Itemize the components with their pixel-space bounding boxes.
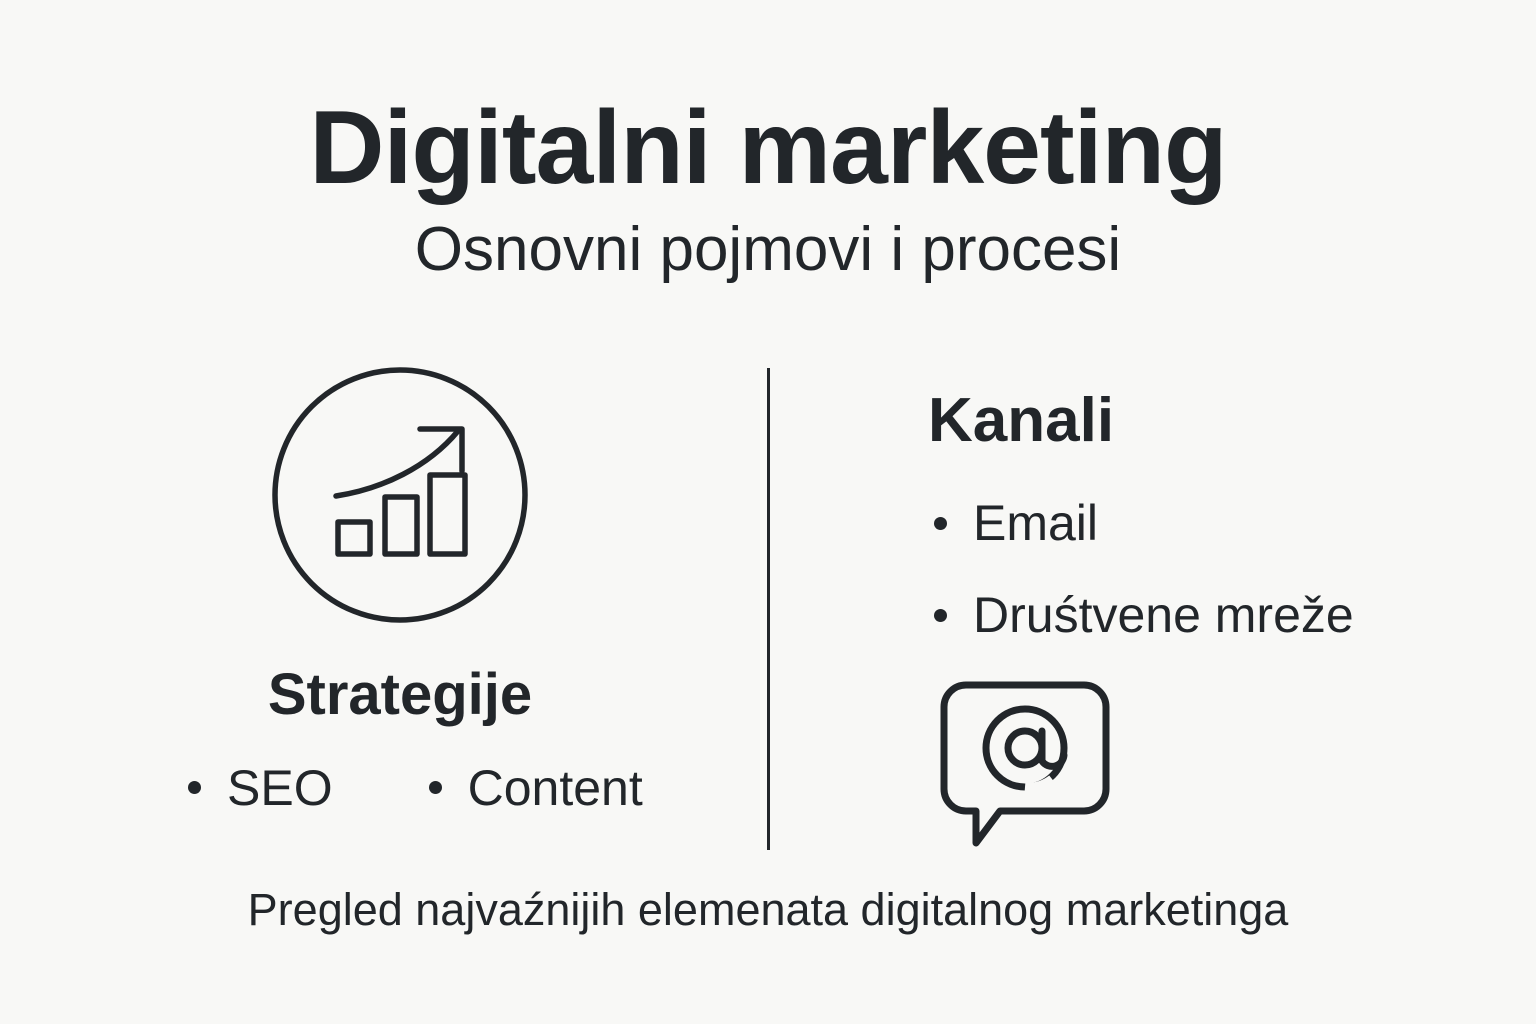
- bullet-dot-icon: [934, 517, 947, 530]
- bullet-dot-icon: [934, 609, 947, 622]
- page-title: Digitalni marketing: [0, 96, 1536, 200]
- slide-root: Digitalni marketing Osnovni pojmovi i pr…: [0, 0, 1536, 1024]
- header: Digitalni marketing Osnovni pojmovi i pr…: [0, 96, 1536, 285]
- list-item-label: Content: [468, 758, 643, 818]
- list-item: Content: [429, 758, 643, 818]
- page-subtitle: Osnovni pojmovi i procesi: [0, 214, 1536, 285]
- list-item-label: Email: [973, 493, 1098, 553]
- list-item-label: Druśtvene mreže: [973, 585, 1354, 645]
- content-columns: Strategije SEO Content Kanali Email: [0, 360, 1536, 860]
- bullet-dot-icon: [188, 781, 201, 794]
- column-divider: [767, 368, 770, 850]
- left-column-heading: Strategije: [100, 665, 700, 726]
- caption: Pregled najvaźnijih elemenata digitalnog…: [0, 884, 1536, 936]
- growth-chart-icon: [272, 367, 528, 623]
- left-column: Strategije SEO Content: [100, 360, 700, 818]
- email-speech-bubble-icon: [936, 677, 1114, 855]
- list-item: SEO: [188, 758, 333, 818]
- list-item: Email: [934, 493, 1488, 553]
- bullet-dot-icon: [429, 781, 442, 794]
- list-item: Druśtvene mreže: [934, 585, 1488, 645]
- right-column-bullets: Email Druśtvene mreže: [934, 493, 1488, 645]
- right-column-heading: Kanali: [928, 388, 1488, 453]
- left-column-bullets: SEO Content: [100, 758, 700, 818]
- list-item-label: SEO: [227, 758, 333, 818]
- right-column: Kanali Email Druśtvene mreže: [928, 360, 1488, 855]
